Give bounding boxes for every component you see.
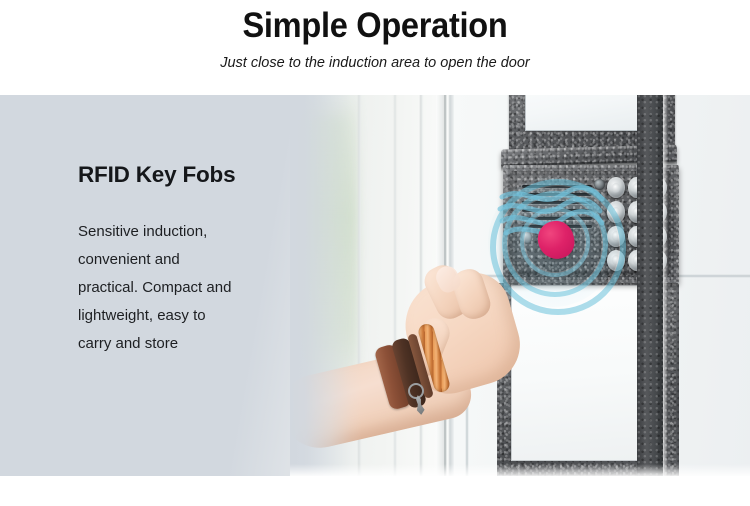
feature-title: RFID Key Fobs <box>78 95 283 189</box>
intercom-display-window <box>525 95 647 131</box>
footer-spacer <box>0 476 750 506</box>
intercom-edge-highlight <box>663 95 668 476</box>
feature-copy-block: RFID Key Fobs Sensitive induction, conve… <box>78 95 283 358</box>
keypad-key[interactable] <box>607 177 625 198</box>
intercom-lower-window <box>511 285 639 461</box>
indicator-led-icon <box>594 179 605 190</box>
product-feature-banner: Simple Operation Just close to the induc… <box>0 0 750 506</box>
hero-section: RFID Key Fobs Sensitive induction, conve… <box>0 95 750 476</box>
page-subtitle: Just close to the induction area to open… <box>0 47 750 72</box>
intercom-side-edge <box>637 95 663 476</box>
product-photo <box>290 95 750 476</box>
page-title: Simple Operation <box>26 0 724 47</box>
feature-description: Sensitive induction, convenient and prac… <box>78 189 238 358</box>
header-section: Simple Operation Just close to the induc… <box>0 0 750 95</box>
charm-ring-icon <box>408 383 424 399</box>
